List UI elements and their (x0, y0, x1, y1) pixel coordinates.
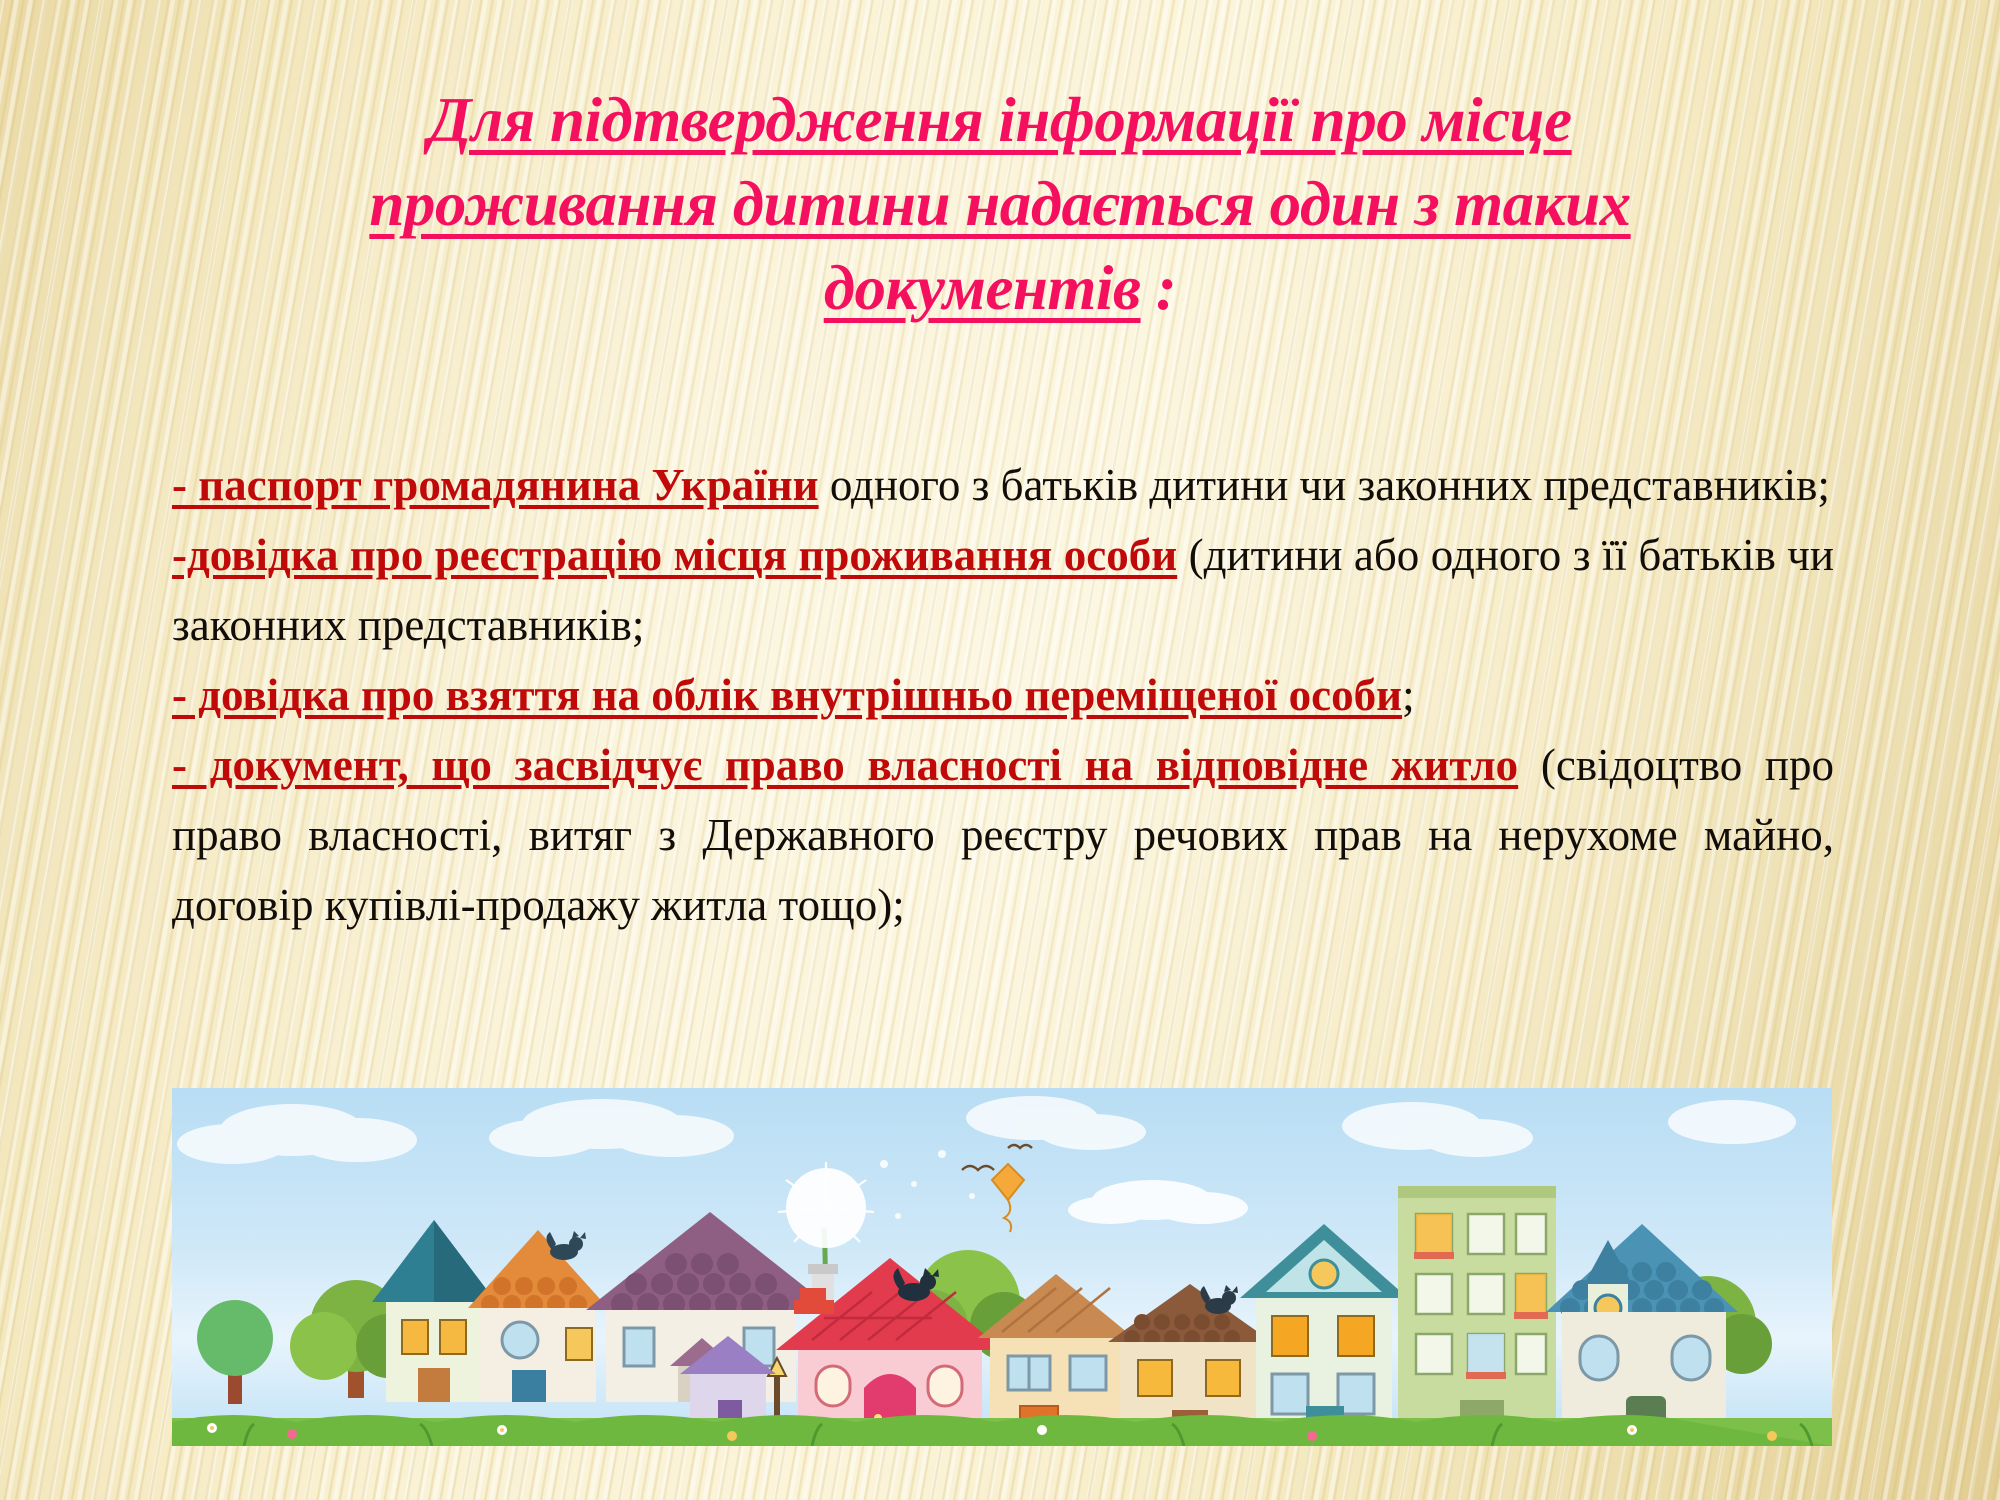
town-illustration (172, 1088, 1832, 1446)
title-line-1: Для підтвердження інформації про місце (428, 85, 1571, 155)
list-item-highlight: - документ, що засвідчує право власності… (172, 740, 1518, 790)
list-item: - документ, що засвідчує право власності… (172, 730, 1834, 940)
title-line-2: проживання дитини надається один з таких (369, 169, 1630, 239)
town-illustration-graphic (172, 1088, 1832, 1446)
list-item-rest: одного з батьків дитини чи законних пред… (819, 460, 1830, 510)
document-list: - паспорт громадянина України одного з б… (172, 450, 1834, 940)
list-item-highlight: - паспорт громадянина України (172, 460, 819, 510)
list-item-rest: ; (1402, 670, 1415, 720)
list-item-highlight: -довідка про реєстрацію місця проживання… (172, 530, 1177, 580)
building-apartment-block (1398, 1186, 1556, 1446)
list-item: - паспорт громадянина України одного з б… (172, 450, 1834, 520)
list-item: -довідка про реєстрацію місця проживання… (172, 520, 1834, 660)
title-line-3-tail: : (1141, 253, 1177, 323)
page-title: Для підтвердження інформації про місце п… (100, 78, 1900, 330)
list-item: - довідка про взяття на облік внутрішньо… (172, 660, 1834, 730)
list-item-highlight: - довідка про взяття на облік внутрішньо… (172, 670, 1402, 720)
title-line-3: документів (824, 253, 1141, 323)
slide-canvas: Для підтвердження інформації про місце п… (0, 0, 2000, 1500)
